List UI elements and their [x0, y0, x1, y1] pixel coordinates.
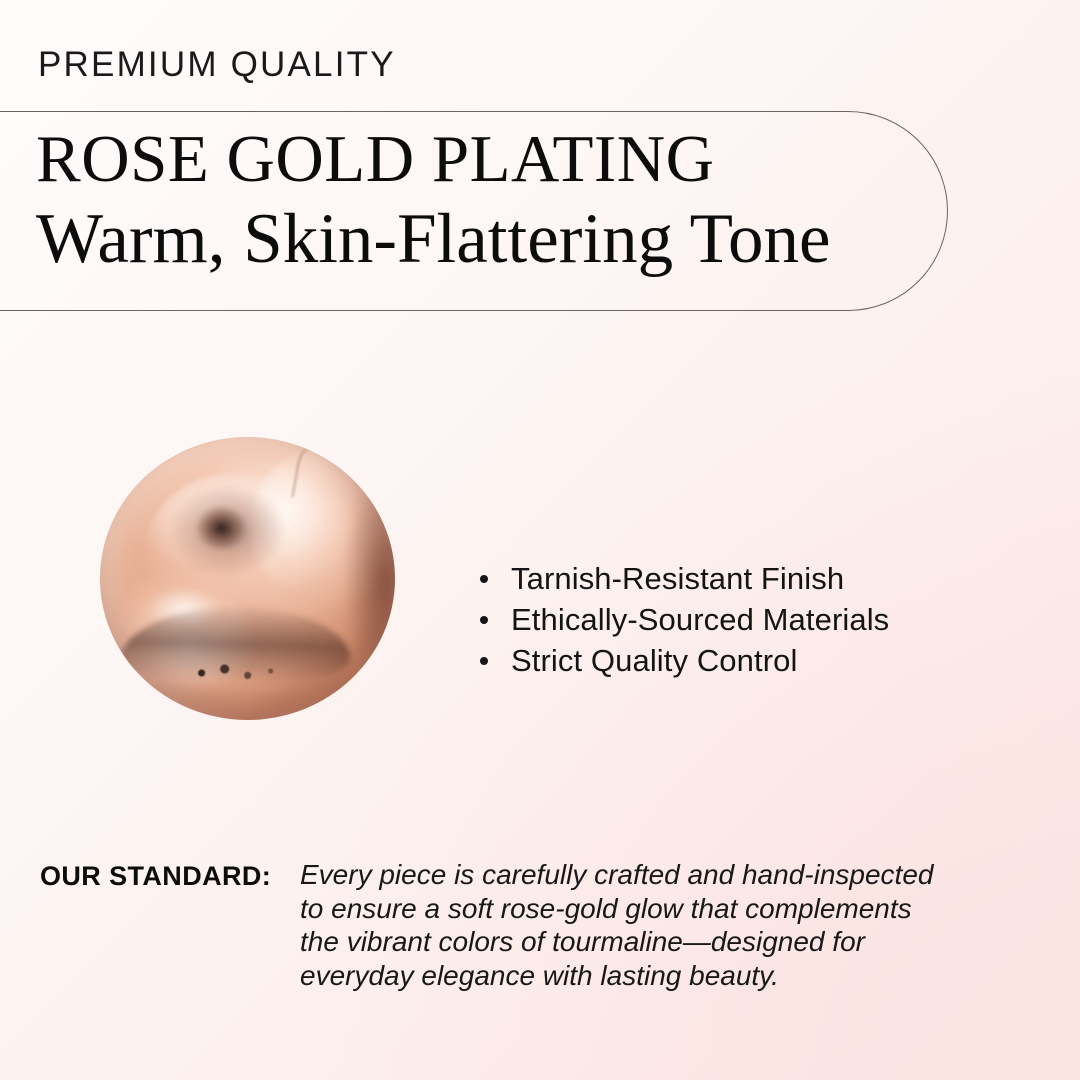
bullet-dot-icon: [480, 616, 488, 624]
sphere-specks: [192, 663, 288, 683]
feature-label: Ethically-Sourced Materials: [511, 602, 889, 637]
standard-line: everyday elegance with lasting beauty.: [300, 959, 1000, 993]
standard-line: to ensure a soft rose-gold glow that com…: [300, 892, 1000, 926]
standard-line: the vibrant colors of tourmaline—designe…: [300, 925, 1000, 959]
premium-quality-card: PREMIUM QUALITY ROSE GOLD PLATING Warm, …: [0, 0, 1080, 1080]
list-item: Strict Quality Control: [478, 640, 889, 681]
feature-list: Tarnish-Resistant Finish Ethically-Sourc…: [478, 558, 889, 681]
eyebrow-label: PREMIUM QUALITY: [38, 47, 396, 82]
standard-label: OUR STANDARD:: [40, 861, 271, 892]
list-item: Ethically-Sourced Materials: [478, 599, 889, 640]
rose-gold-sphere-icon: [100, 437, 395, 720]
standard-line: Every piece is carefully crafted and han…: [300, 858, 1000, 892]
bullet-dot-icon: [480, 657, 488, 665]
feature-label: Strict Quality Control: [511, 643, 797, 678]
bullet-dot-icon: [480, 575, 488, 583]
feature-label: Tarnish-Resistant Finish: [511, 561, 844, 596]
sphere-swirl-core: [188, 499, 254, 557]
page-title: ROSE GOLD PLATING Warm, Skin-Flattering …: [36, 126, 996, 275]
title-line-2: Warm, Skin-Flattering Tone: [36, 204, 996, 275]
product-image: [98, 433, 398, 723]
list-item: Tarnish-Resistant Finish: [478, 558, 889, 599]
title-line-1: ROSE GOLD PLATING: [36, 126, 996, 193]
standard-paragraph: Every piece is carefully crafted and han…: [300, 858, 1000, 992]
